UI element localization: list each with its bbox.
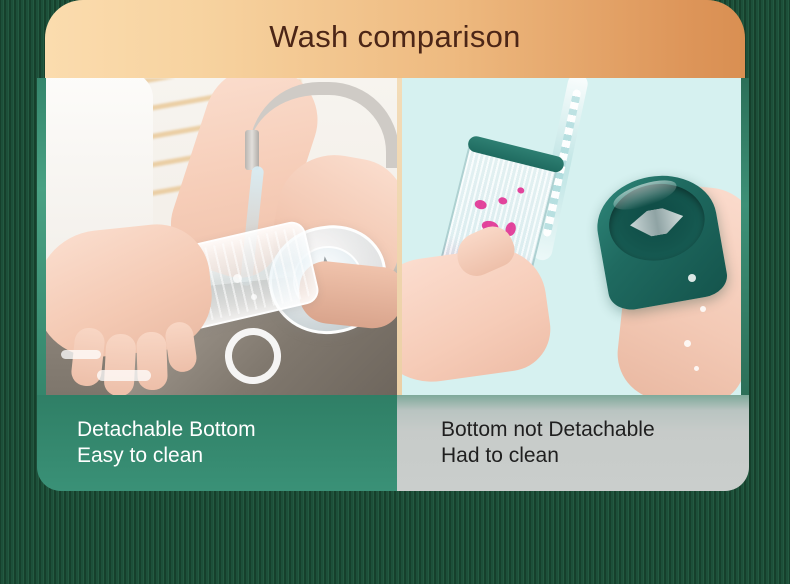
faucet-spout (245, 130, 259, 170)
caption-right-line2: Had to clean (441, 443, 749, 469)
caption-left-line1: Detachable Bottom (77, 417, 397, 443)
header-banner: Wash comparison (45, 0, 745, 78)
water-droplet (700, 306, 706, 312)
finger (103, 333, 136, 395)
comparison-card: Wash comparison (37, 0, 749, 491)
finger (136, 331, 168, 390)
splash-droplet (251, 294, 257, 300)
photo-detachable-bottom (37, 78, 397, 395)
photo-left-rail (37, 78, 46, 395)
page-title: Wash comparison (269, 21, 520, 58)
splash-droplet (97, 370, 151, 381)
caption-bar: Detachable Bottom Easy to clean Bottom n… (37, 395, 749, 491)
photo-strip (37, 78, 749, 395)
caption-not-detachable: Bottom not Detachable Had to clean (397, 395, 749, 491)
photo-not-detachable (402, 78, 749, 395)
splash-droplet (61, 350, 101, 359)
water-droplet (688, 274, 696, 282)
caption-left-line2: Easy to clean (77, 443, 397, 469)
photo-right-rail (741, 78, 749, 395)
caption-right-line1: Bottom not Detachable (441, 417, 749, 443)
blade-icon (628, 205, 686, 240)
splash-droplet (233, 274, 242, 283)
caption-detachable-bottom: Detachable Bottom Easy to clean (37, 395, 397, 491)
water-droplet (684, 340, 691, 347)
water-droplet (694, 366, 699, 371)
